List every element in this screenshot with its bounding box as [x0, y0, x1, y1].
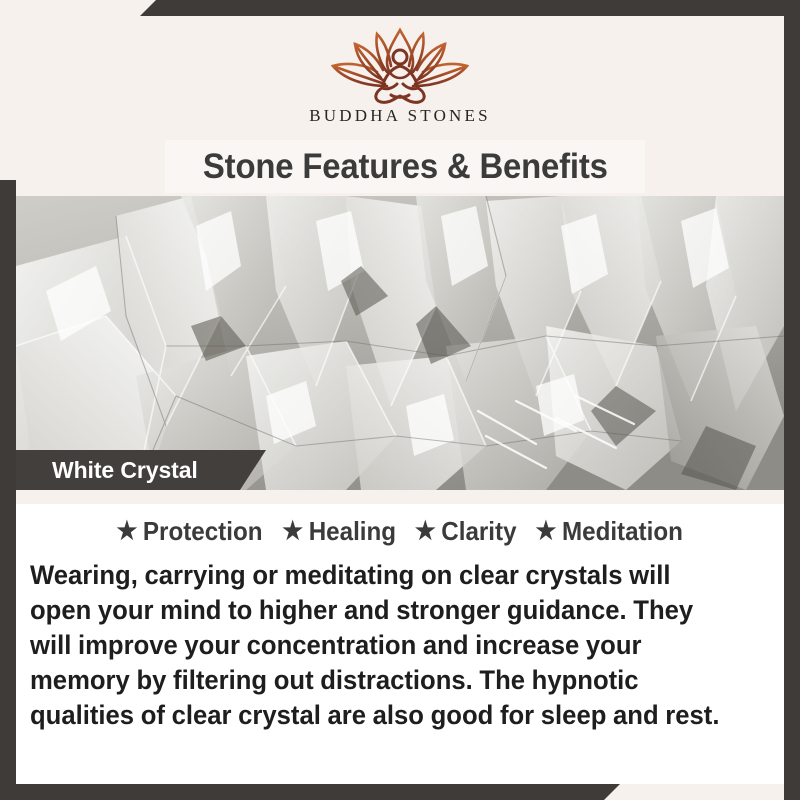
benefit-label: Healing	[309, 516, 396, 547]
title-box: Stone Features & Benefits	[165, 140, 645, 193]
title-band: Stone Features & Benefits	[16, 140, 784, 196]
lotus-meditation-icon	[325, 26, 475, 104]
brand-header: BUDDHA STONES	[16, 16, 784, 140]
frame-bar-left	[0, 180, 16, 800]
stone-name-label: White Crystal	[52, 457, 198, 484]
brand-wordmark: BUDDHA STONES	[309, 106, 491, 126]
frame-bar-bottom	[0, 784, 620, 800]
star-icon: ★	[536, 519, 557, 544]
white-crystal-cluster-photo	[16, 196, 784, 490]
star-icon: ★	[117, 519, 138, 544]
description-panel: ★ Protection ★ Healing ★ Clarity ★ Medit…	[16, 490, 784, 784]
benefit-item-healing: ★ Healing	[283, 516, 397, 547]
benefits-row: ★ Protection ★ Healing ★ Clarity ★ Medit…	[16, 516, 784, 547]
stone-benefits-card: BUDDHA STONES Stone Features & Benefits	[0, 0, 800, 800]
benefit-label: Meditation	[562, 516, 683, 547]
benefit-label: Protection	[143, 516, 263, 547]
star-icon: ★	[415, 519, 436, 544]
page-body: BUDDHA STONES Stone Features & Benefits	[16, 16, 784, 784]
description-text: Wearing, carrying or meditating on clear…	[30, 558, 731, 733]
benefit-item-meditation: ★ Meditation	[536, 516, 683, 547]
benefit-label: Clarity	[441, 516, 516, 547]
frame-bar-right	[784, 16, 800, 800]
panel-top-strip	[16, 490, 784, 504]
stone-name-banner: White Crystal	[16, 450, 266, 490]
star-icon: ★	[283, 519, 304, 544]
benefit-item-clarity: ★ Clarity	[415, 516, 517, 547]
page-title: Stone Features & Benefits	[203, 147, 608, 187]
frame-bar-top	[140, 0, 800, 16]
benefit-item-protection: ★ Protection	[117, 516, 263, 547]
